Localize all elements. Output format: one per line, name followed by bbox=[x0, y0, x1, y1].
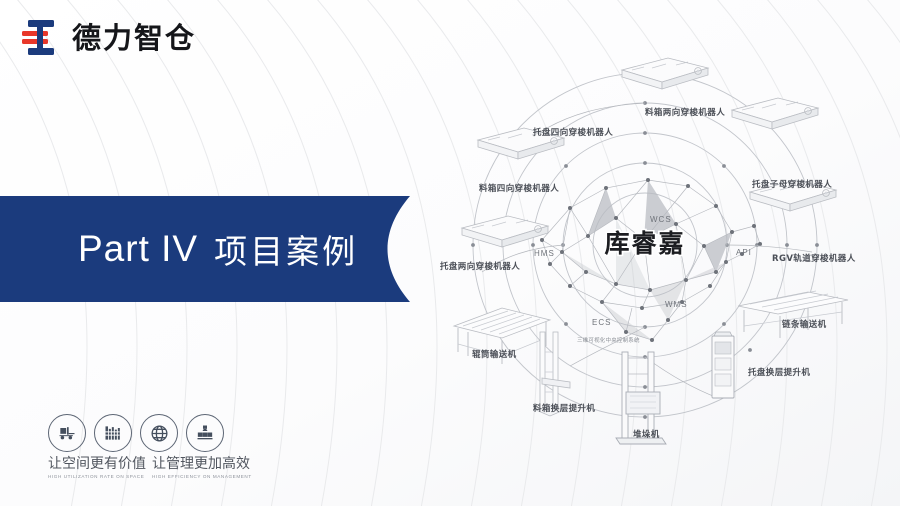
equipment-label-stacker: 堆垛机 bbox=[633, 428, 660, 440]
ring-label-wms: WMS bbox=[665, 300, 688, 309]
slogan-management-cn: 让管理更加高效 bbox=[152, 456, 252, 472]
equipment-label-tuopan-4way: 托盘四向穿梭机器人 bbox=[533, 126, 613, 138]
part-banner-label: Part IV 项目案例 bbox=[78, 196, 378, 302]
core-brand-label: 库睿嘉 bbox=[585, 224, 705, 260]
slogan-space-en: HIGH UTILIZATION RATE ON SPACE bbox=[48, 474, 146, 479]
equipment-label-chain-conveyor: 链条输送机 bbox=[782, 318, 827, 330]
slogan-space: 让空间更有价值 HIGH UTILIZATION RATE ON SPACE bbox=[48, 456, 146, 479]
page-title: 项目案例 bbox=[214, 225, 358, 273]
equipment-label-pallet-lifter: 托盘换层提升机 bbox=[748, 366, 810, 378]
palletized-goods-icon bbox=[186, 414, 224, 452]
slogan-management-en: HIGH EFFICIENCY ON MANAGEMENT bbox=[152, 474, 252, 479]
brain-network-icon bbox=[540, 178, 762, 342]
ring-label-api: API bbox=[736, 248, 752, 257]
forklift-icon bbox=[48, 414, 86, 452]
brand-name: 德力智仓 bbox=[72, 24, 196, 53]
brand-logo: 德力智仓 bbox=[18, 18, 196, 58]
ring-label-wcs: WCS bbox=[650, 215, 672, 224]
equipment-label-tuopan-2way: 托盘两向穿梭机器人 bbox=[440, 260, 520, 272]
delizhicang-bars-logo-icon bbox=[18, 18, 62, 58]
equipment-label-tuopan-zimu: 托盘子母穿梭机器人 bbox=[752, 178, 832, 190]
ring-label-ecs: ECS bbox=[592, 318, 611, 327]
footer-block: 让空间更有价值 HIGH UTILIZATION RATE ON SPACE 让… bbox=[48, 414, 263, 486]
globe-icon bbox=[140, 414, 178, 452]
equipment-label-liaoxiang-2way: 料箱两向穿梭机器人 bbox=[645, 106, 725, 118]
equipment-label-liaoxiang-4way: 料箱四向穿梭机器人 bbox=[479, 182, 559, 194]
footer-slogans: 让空间更有价值 HIGH UTILIZATION RATE ON SPACE 让… bbox=[48, 456, 273, 479]
equipment-label-roller-conveyor: 辊筒输送机 bbox=[472, 348, 517, 360]
slide-canvas: 德力智仓 Part IV 项目案例 bbox=[0, 0, 900, 506]
equipment-label-rgv: RGV轨道穿梭机器人 bbox=[772, 252, 856, 264]
equipment-label-tote-lifter: 料箱换层提升机 bbox=[533, 402, 595, 414]
footer-icon-row bbox=[48, 414, 224, 452]
warehouse-racking-icon bbox=[94, 414, 132, 452]
ring-label-hms: HMS bbox=[534, 249, 555, 258]
part-banner: Part IV 项目案例 bbox=[0, 196, 435, 302]
part-number: Part IV bbox=[78, 228, 198, 270]
system-caption: 三维可视化中央控制系统 bbox=[577, 336, 640, 344]
slogan-management: 让管理更加高效 HIGH EFFICIENCY ON MANAGEMENT bbox=[152, 456, 252, 479]
slogan-space-cn: 让空间更有价值 bbox=[48, 456, 146, 472]
